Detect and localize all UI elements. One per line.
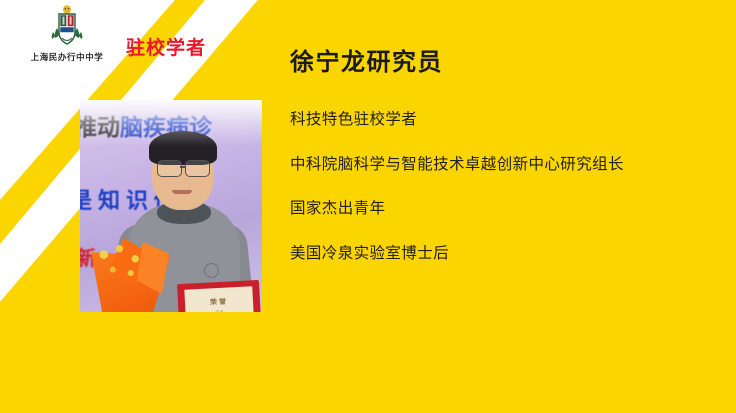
certificate-title: 荣誉 (185, 295, 253, 309)
certificate-inner-panel: 荣誉 证书 (184, 286, 254, 312)
credentials-list: 科技特色驻校学者 中科院脑科学与智能技术卓越创新中心研究组长 国家杰出青年 美国… (290, 112, 710, 261)
school-name-text: 上海民办行中中学 (27, 51, 107, 63)
person-mouth (172, 190, 192, 194)
glasses-right-lens (185, 160, 210, 177)
certificate-subtitle: 证书 (185, 308, 253, 312)
badge-label: 驻校学者 (126, 33, 206, 60)
glasses-left-lens (157, 160, 182, 177)
bouquet-flowers (96, 242, 152, 284)
portrait-photo: 推动脑疾病诊 是知识传播 新 荣誉 证书 (80, 100, 262, 312)
glasses-bridge (180, 166, 185, 168)
slide-root: 上海民办行中中学 驻校学者 徐宁龙研究员 科技特色驻校学者 中科院脑科学与智能技… (0, 0, 736, 413)
photo-top-haze (80, 100, 262, 146)
credential-line: 美国冷泉实验室博士后 (290, 246, 710, 262)
credential-line: 科技特色驻校学者 (290, 112, 710, 128)
credential-line: 中科院脑科学与智能技术卓越创新中心研究组长 (290, 157, 710, 173)
portrait-photo-image: 推动脑疾病诊 是知识传播 新 荣誉 证书 (80, 100, 262, 312)
page-title: 徐宁龙研究员 (290, 42, 443, 77)
school-crest-icon (46, 4, 88, 50)
credential-line: 国家杰出青年 (290, 201, 710, 217)
sweater-emblem (204, 263, 219, 278)
award-certificate: 荣誉 证书 (177, 280, 261, 312)
school-logo: 上海民办行中中学 (27, 4, 107, 63)
